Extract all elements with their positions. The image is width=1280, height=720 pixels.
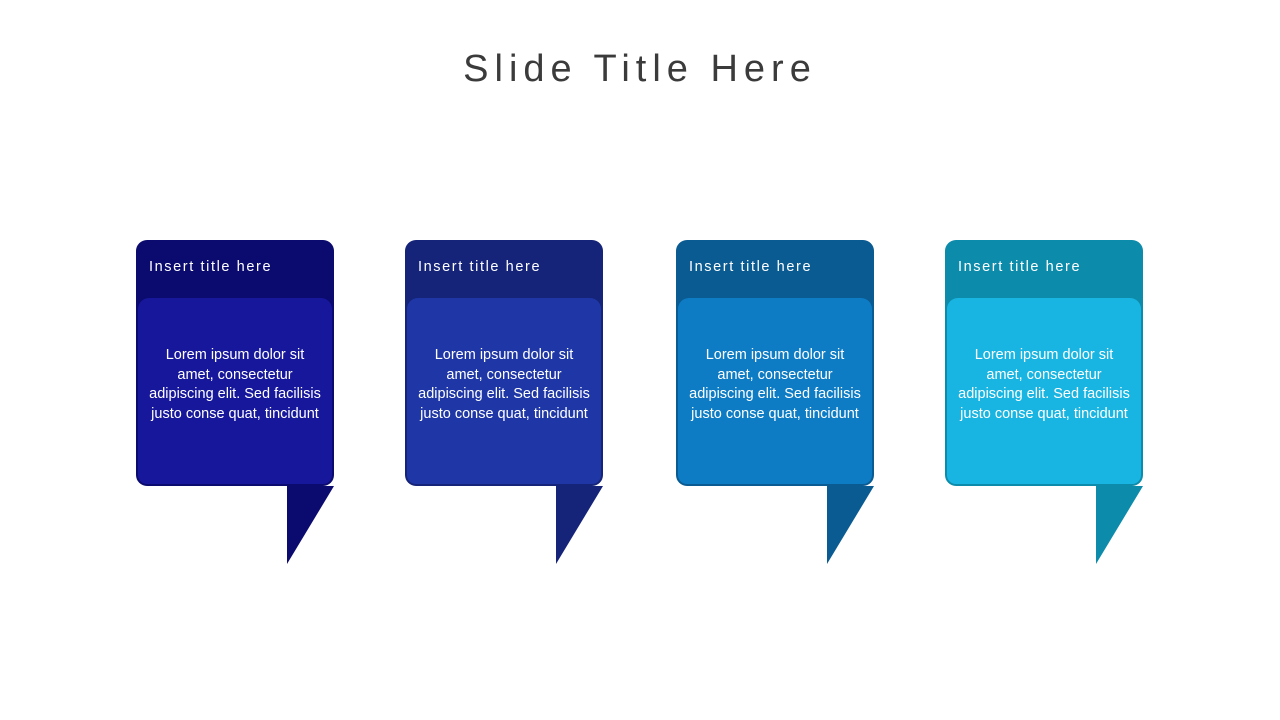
callout-tail <box>556 486 603 564</box>
card-body-text: Lorem ipsum dolor sit amet, consectetur … <box>957 346 1131 424</box>
callout-tail <box>287 486 334 564</box>
card-body-text: Lorem ipsum dolor sit amet, consectetur … <box>148 346 322 424</box>
callout-card-group: Insert title hereLorem ipsum dolor sit a… <box>0 0 1280 720</box>
card-title: Insert title here <box>418 259 594 275</box>
card-title: Insert title here <box>689 259 865 275</box>
callout-body: Insert title hereLorem ipsum dolor sit a… <box>136 240 334 486</box>
callout-card[interactable]: Insert title hereLorem ipsum dolor sit a… <box>405 240 603 486</box>
callout-card[interactable]: Insert title hereLorem ipsum dolor sit a… <box>136 240 334 486</box>
callout-card[interactable]: Insert title hereLorem ipsum dolor sit a… <box>676 240 874 486</box>
callout-tail <box>827 486 874 564</box>
card-body-text: Lorem ipsum dolor sit amet, consectetur … <box>417 346 591 424</box>
card-title: Insert title here <box>958 259 1134 275</box>
callout-card[interactable]: Insert title hereLorem ipsum dolor sit a… <box>945 240 1143 486</box>
card-title: Insert title here <box>149 259 325 275</box>
callout-tail <box>1096 486 1143 564</box>
slide-canvas: Slide Title Here Insert title hereLorem … <box>0 0 1280 720</box>
callout-body: Insert title hereLorem ipsum dolor sit a… <box>676 240 874 486</box>
card-body-text: Lorem ipsum dolor sit amet, consectetur … <box>688 346 862 424</box>
callout-body: Insert title hereLorem ipsum dolor sit a… <box>945 240 1143 486</box>
callout-body: Insert title hereLorem ipsum dolor sit a… <box>405 240 603 486</box>
